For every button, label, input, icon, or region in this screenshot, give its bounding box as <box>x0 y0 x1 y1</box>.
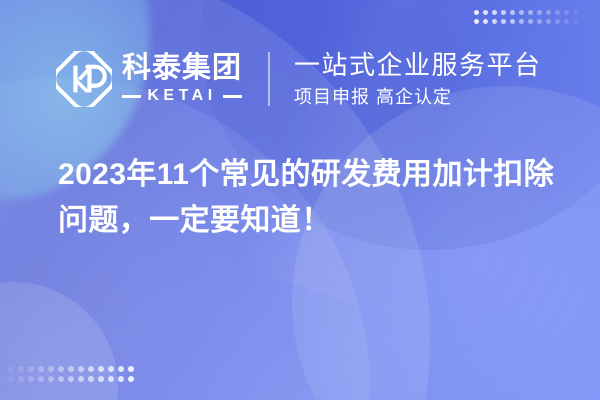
header-vertical-divider <box>268 52 270 106</box>
decorative-dot <box>519 19 524 24</box>
decorative-dot <box>108 366 114 372</box>
decorative-dot <box>537 19 542 24</box>
decorative-dot <box>510 10 515 15</box>
brand-name-latin: KETAI <box>141 88 222 104</box>
decorative-dot <box>573 10 578 15</box>
decorative-dot <box>38 376 44 382</box>
decorative-dot <box>18 366 24 372</box>
dot-grid-bottom-left <box>8 366 138 386</box>
tagline-block: 一站式企业服务平台 项目申报 高企认定 <box>294 50 542 108</box>
decorative-dot <box>492 19 497 24</box>
decorative-dot <box>48 376 54 382</box>
decorative-dot <box>501 19 506 24</box>
decorative-dot <box>118 376 124 382</box>
decorative-dot <box>98 366 104 372</box>
decorative-dot <box>555 10 560 15</box>
decorative-dot <box>474 10 479 15</box>
decorative-dot <box>128 376 134 382</box>
decorative-dot <box>88 376 94 382</box>
ketai-kp-diamond-logo-icon <box>56 51 112 107</box>
decorative-dot <box>128 366 134 372</box>
decorative-dot <box>58 366 64 372</box>
decorative-dot <box>528 10 533 15</box>
decorative-dot <box>78 366 84 372</box>
decorative-dot <box>58 376 64 382</box>
decorative-dot <box>537 10 542 15</box>
decorative-dot <box>108 376 114 382</box>
brand-wordmark: 科泰集团 KETAI <box>122 54 242 104</box>
decorative-dot <box>474 19 479 24</box>
decorative-dot <box>519 10 524 15</box>
decorative-dot <box>8 376 14 382</box>
decorative-dot <box>546 10 551 15</box>
tagline-secondary: 项目申报 高企认定 <box>294 87 542 109</box>
decorative-dot <box>483 19 488 24</box>
article-headline: 2023年11个常见的研发费用加计扣除问题，一定要知道！ <box>58 152 558 243</box>
decorative-dot <box>18 376 24 382</box>
decorative-dot <box>48 366 54 372</box>
decorative-dot <box>78 376 84 382</box>
decorative-dot <box>528 19 533 24</box>
decorative-dot <box>546 19 551 24</box>
decorative-dot <box>564 10 569 15</box>
decorative-dot <box>573 19 578 24</box>
decorative-dot <box>68 366 74 372</box>
decorative-dot <box>564 19 569 24</box>
dot-grid-top-right <box>474 10 582 28</box>
promo-banner: 科泰集团 KETAI 一站式企业服务平台 项目申报 高企认定 2023年11个常… <box>0 0 600 400</box>
wordmark-rule-left <box>122 95 141 98</box>
decorative-dot <box>98 376 104 382</box>
decorative-dot <box>28 366 34 372</box>
brand-logo[interactable]: 科泰集团 KETAI <box>56 51 242 107</box>
decorative-dot <box>492 10 497 15</box>
decorative-dot <box>68 376 74 382</box>
decorative-dot <box>501 10 506 15</box>
decorative-dot <box>28 376 34 382</box>
decorative-dot <box>8 366 14 372</box>
decorative-dot <box>118 366 124 372</box>
decorative-dot <box>88 366 94 372</box>
banner-header: 科泰集团 KETAI 一站式企业服务平台 项目申报 高企认定 <box>0 38 600 120</box>
decorative-dot <box>483 10 488 15</box>
decorative-dot <box>38 366 44 372</box>
wordmark-rule-right <box>223 95 242 98</box>
decorative-dot <box>555 19 560 24</box>
brand-latin-row: KETAI <box>122 88 242 104</box>
decorative-dot <box>510 19 515 24</box>
tagline-primary: 一站式企业服务平台 <box>294 50 542 81</box>
brand-name-cn: 科泰集团 <box>122 54 242 83</box>
